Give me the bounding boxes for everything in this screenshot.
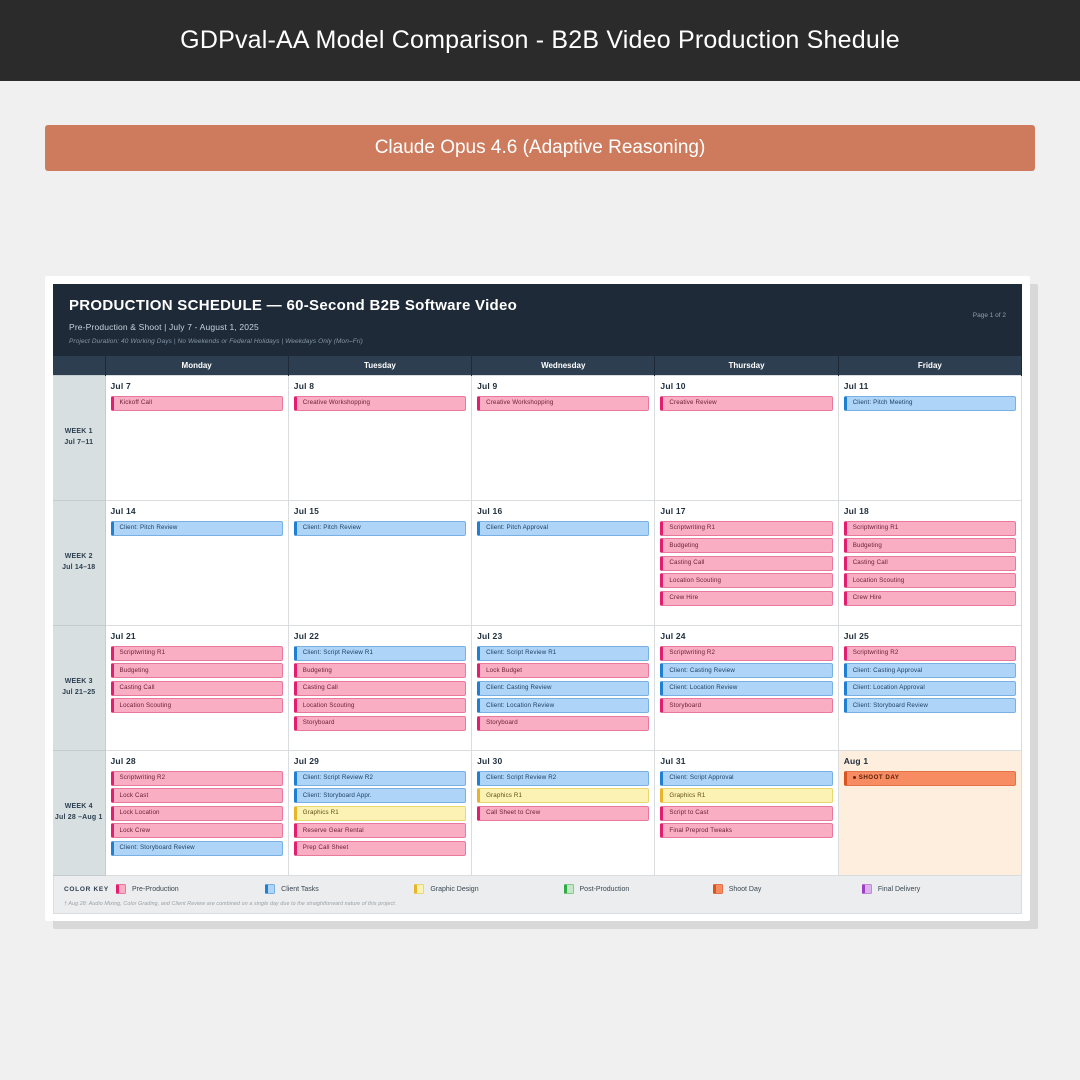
color-key-item: Shoot Day (713, 884, 862, 894)
event-chip-pre[interactable]: Location Scouting (294, 698, 466, 713)
event-chip-client[interactable]: Client: Location Approval (844, 681, 1016, 696)
event-chip-pre[interactable]: Scriptwriting R2 (111, 771, 283, 786)
event-chip-client[interactable]: Client: Script Review R2 (294, 771, 466, 786)
day-cell[interactable]: Jul 25Scriptwriting R2Client: Casting Ap… (838, 626, 1021, 751)
day-date-label: Jul 15 (294, 506, 466, 516)
event-chip-pre[interactable]: Location Scouting (660, 573, 832, 588)
color-key-row: COLOR KEY Pre-ProductionClient TasksGrap… (64, 884, 1011, 894)
week-row: WEEK 3Jul 21–25Jul 21Scriptwriting R1Bud… (53, 626, 1022, 751)
model-banner: Claude Opus 4.6 (Adaptive Reasoning) (45, 125, 1035, 171)
week-row: WEEK 1Jul 7–11Jul 7Kickoff CallJul 8Crea… (53, 376, 1022, 501)
event-chip-pre[interactable]: Lock Crew (111, 823, 283, 838)
event-chip-client[interactable]: Client: Pitch Review (294, 521, 466, 536)
week-label-range: Jul 21–25 (53, 688, 105, 699)
schedule-meta: Project Duration: 40 Working Days | No W… (69, 338, 1006, 345)
event-chip-pre[interactable]: Location Scouting (844, 573, 1016, 588)
event-chip-client[interactable]: Client: Storyboard Appr. (294, 788, 466, 803)
day-cell[interactable]: Jul 10Creative Review (655, 376, 838, 501)
event-chip-pre[interactable]: Reserve Gear Rental (294, 823, 466, 838)
day-cell[interactable]: Jul 16Client: Pitch Approval (472, 501, 655, 626)
event-chip-client[interactable]: Client: Script Review R1 (477, 646, 649, 661)
day-cell[interactable]: Jul 24Scriptwriting R2Client: Casting Re… (655, 626, 838, 751)
color-key-label: Client Tasks (281, 886, 319, 893)
app-header: GDPval-AA Model Comparison - B2B Video P… (0, 0, 1080, 81)
event-chip-pre[interactable]: Budgeting (111, 663, 283, 678)
event-chip-pre[interactable]: Casting Call (111, 681, 283, 696)
event-chip-client[interactable]: Client: Pitch Review (111, 521, 283, 536)
event-chip-pre[interactable]: Budgeting (660, 538, 832, 553)
week-label-cell: WEEK 4Jul 28 –Aug 1 (53, 751, 105, 876)
day-cell[interactable]: Jul 14Client: Pitch Review (105, 501, 288, 626)
page-title: GDPval-AA Model Comparison - B2B Video P… (180, 26, 900, 55)
color-key-label: Final Delivery (878, 886, 920, 893)
color-key-item: Graphic Design (414, 884, 563, 894)
week-row: WEEK 4Jul 28 –Aug 1Jul 28Scriptwriting R… (53, 751, 1022, 876)
day-date-label: Jul 16 (477, 506, 649, 516)
event-chip-pre[interactable]: Crew Hire (660, 591, 832, 606)
color-swatch-graphic (414, 884, 424, 894)
color-swatch-pre (116, 884, 126, 894)
event-chip-pre[interactable]: Storyboard (294, 716, 466, 731)
event-chip-pre[interactable]: Creative Review (660, 396, 832, 411)
event-chip-pre[interactable]: Casting Call (844, 556, 1016, 571)
event-chip-pre[interactable]: Storyboard (660, 698, 832, 713)
event-chip-shoot[interactable]: SHOOT DAY (844, 771, 1016, 786)
event-chip-graphic[interactable]: Graphics R1 (477, 788, 649, 803)
day-date-label: Jul 21 (111, 631, 283, 641)
calendar-head: Monday Tuesday Wednesday Thursday Friday (53, 356, 1022, 376)
event-chip-pre[interactable]: Lock Budget (477, 663, 649, 678)
day-cell[interactable]: Jul 23Client: Script Review R1Lock Budge… (472, 626, 655, 751)
event-chip-pre[interactable]: Final Preprod Tweaks (660, 823, 832, 838)
day-cell[interactable]: Jul 22Client: Script Review R1BudgetingC… (288, 626, 471, 751)
day-cell[interactable]: Jul 7Kickoff Call (105, 376, 288, 501)
color-key-item: Final Delivery (862, 884, 1011, 894)
event-chip-client[interactable]: Client: Storyboard Review (844, 698, 1016, 713)
calendar-table: Monday Tuesday Wednesday Thursday Friday… (53, 356, 1022, 876)
event-chip-pre[interactable]: Crew Hire (844, 591, 1016, 606)
day-cell[interactable]: Jul 15Client: Pitch Review (288, 501, 471, 626)
week-label-name: WEEK 4 (53, 802, 105, 813)
event-chip-pre[interactable]: Prep Call Sheet (294, 841, 466, 856)
color-key-label: Shoot Day (729, 886, 762, 893)
week-label-cell: WEEK 3Jul 21–25 (53, 626, 105, 751)
page-number: Page 1 of 2 (973, 312, 1006, 319)
event-chip-pre[interactable]: Scriptwriting R1 (111, 646, 283, 661)
color-key-item: Pre-Production (116, 884, 265, 894)
day-cell[interactable]: Jul 29Client: Script Review R2Client: St… (288, 751, 471, 876)
day-date-label: Jul 11 (844, 381, 1016, 391)
day-cell[interactable]: Jul 21Scriptwriting R1BudgetingCasting C… (105, 626, 288, 751)
event-chip-pre[interactable]: Call Sheet to Crew (477, 806, 649, 821)
event-chip-client[interactable]: Client: Script Review R1 (294, 646, 466, 661)
week-label-cell: WEEK 1Jul 7–11 (53, 376, 105, 501)
day-date-label: Jul 28 (111, 756, 283, 766)
day-header-wednesday: Wednesday (472, 356, 655, 376)
event-chip-pre[interactable]: Scriptwriting R2 (844, 646, 1016, 661)
event-chip-pre[interactable]: Creative Workshopping (294, 396, 466, 411)
event-chip-pre[interactable]: Budgeting (294, 663, 466, 678)
event-chip-client[interactable]: Client: Script Review R2 (477, 771, 649, 786)
day-date-label: Jul 24 (660, 631, 832, 641)
day-date-label: Jul 17 (660, 506, 832, 516)
event-chip-graphic[interactable]: Graphics R1 (294, 806, 466, 821)
day-cell[interactable]: Jul 18Scriptwriting R1BudgetingCasting C… (838, 501, 1021, 626)
color-key-items: Pre-ProductionClient TasksGraphic Design… (116, 884, 1011, 894)
color-key-label: Post-Production (580, 886, 630, 893)
color-key-title: COLOR KEY (64, 886, 116, 893)
week-label-name: WEEK 2 (53, 552, 105, 563)
week-label-name: WEEK 1 (53, 427, 105, 438)
color-key-label: Pre-Production (132, 886, 179, 893)
event-chip-client[interactable]: Client: Casting Review (477, 681, 649, 696)
event-chip-client[interactable]: Client: Storyboard Review (111, 841, 283, 856)
model-band-container: Claude Opus 4.6 (Adaptive Reasoning) (0, 81, 1080, 171)
day-header-monday: Monday (105, 356, 288, 376)
color-key-item: Post-Production (564, 884, 713, 894)
shoot-day-dot-icon (853, 776, 856, 779)
event-chip-pre[interactable]: Budgeting (844, 538, 1016, 553)
week-label-cell: WEEK 2Jul 14–18 (53, 501, 105, 626)
event-chip-pre[interactable]: Lock Location (111, 806, 283, 821)
day-date-label: Jul 8 (294, 381, 466, 391)
day-cell[interactable]: Jul 11Client: Pitch Meeting (838, 376, 1021, 501)
day-date-label: Jul 7 (111, 381, 283, 391)
day-date-label: Jul 23 (477, 631, 649, 641)
day-cell[interactable]: Jul 8Creative Workshopping (288, 376, 471, 501)
day-date-label: Jul 18 (844, 506, 1016, 516)
day-header-tuesday: Tuesday (288, 356, 471, 376)
event-chip-pre[interactable]: Scriptwriting R2 (660, 646, 832, 661)
event-chip-pre[interactable]: Scriptwriting R1 (660, 521, 832, 536)
event-chip-pre[interactable]: Creative Workshopping (477, 396, 649, 411)
day-cell[interactable]: Jul 30Client: Script Review R2Graphics R… (472, 751, 655, 876)
color-swatch-shoot (713, 884, 723, 894)
event-chip-client[interactable]: Client: Casting Approval (844, 663, 1016, 678)
schedule-title: PRODUCTION SCHEDULE — 60-Second B2B Soft… (69, 297, 1006, 314)
model-name-label: Claude Opus 4.6 (Adaptive Reasoning) (375, 137, 706, 159)
week-label-name: WEEK 3 (53, 677, 105, 688)
week-label-range: Jul 28 –Aug 1 (53, 813, 105, 824)
week-label-range: Jul 7–11 (53, 438, 105, 449)
event-chip-client[interactable]: Client: Script Approval (660, 771, 832, 786)
event-chip-client[interactable]: Client: Pitch Approval (477, 521, 649, 536)
event-chip-pre[interactable]: Kickoff Call (111, 396, 283, 411)
color-swatch-client (265, 884, 275, 894)
day-date-label: Jul 29 (294, 756, 466, 766)
event-chip-client[interactable]: Client: Location Review (477, 698, 649, 713)
day-cell[interactable]: Aug 1SHOOT DAY (838, 751, 1021, 876)
day-date-label: Jul 10 (660, 381, 832, 391)
event-chip-pre[interactable]: Location Scouting (111, 698, 283, 713)
day-date-label: Jul 9 (477, 381, 649, 391)
day-date-label: Jul 25 (844, 631, 1016, 641)
event-chip-pre[interactable]: Lock Cast (111, 788, 283, 803)
color-key-label: Graphic Design (430, 886, 478, 893)
schedule-subtitle: Pre-Production & Shoot | July 7 - August… (69, 322, 1006, 332)
day-cell[interactable]: Jul 9Creative Workshopping (472, 376, 655, 501)
week-label-range: Jul 14–18 (53, 563, 105, 574)
schedule-header: PRODUCTION SCHEDULE — 60-Second B2B Soft… (53, 284, 1022, 356)
day-header-friday: Friday (838, 356, 1021, 376)
day-date-label: Jul 14 (111, 506, 283, 516)
event-chip-pre[interactable]: Scriptwriting R1 (844, 521, 1016, 536)
event-chip-client[interactable]: Client: Casting Review (660, 663, 832, 678)
event-chip-pre[interactable]: Storyboard (477, 716, 649, 731)
color-swatch-final (862, 884, 872, 894)
day-date-label: Jul 22 (294, 631, 466, 641)
schedule-footnote: † Aug 28: Audio Mixing, Color Grading, a… (64, 901, 1011, 907)
day-date-label: Aug 1 (844, 756, 1016, 766)
event-chip-graphic[interactable]: Graphics R1 (660, 788, 832, 803)
color-swatch-post (564, 884, 574, 894)
day-header-row: Monday Tuesday Wednesday Thursday Friday (53, 356, 1022, 376)
event-chip-client[interactable]: Client: Location Review (660, 681, 832, 696)
event-label: SHOOT DAY (859, 774, 900, 781)
day-date-label: Jul 30 (477, 756, 649, 766)
document-container: PRODUCTION SCHEDULE — 60-Second B2B Soft… (0, 171, 1080, 921)
day-date-label: Jul 31 (660, 756, 832, 766)
production-schedule-document: PRODUCTION SCHEDULE — 60-Second B2B Soft… (45, 276, 1030, 921)
calendar-body: WEEK 1Jul 7–11Jul 7Kickoff CallJul 8Crea… (53, 376, 1022, 876)
color-key: COLOR KEY Pre-ProductionClient TasksGrap… (53, 876, 1022, 914)
color-key-item: Client Tasks (265, 884, 414, 894)
day-cell[interactable]: Jul 31Client: Script ApprovalGraphics R1… (655, 751, 838, 876)
event-chip-pre[interactable]: Script to Cast (660, 806, 832, 821)
day-cell[interactable]: Jul 28Scriptwriting R2Lock CastLock Loca… (105, 751, 288, 876)
event-chip-pre[interactable]: Casting Call (294, 681, 466, 696)
day-header-thursday: Thursday (655, 356, 838, 376)
week-column-header (53, 356, 105, 376)
event-chip-pre[interactable]: Casting Call (660, 556, 832, 571)
day-cell[interactable]: Jul 17Scriptwriting R1BudgetingCasting C… (655, 501, 838, 626)
week-row: WEEK 2Jul 14–18Jul 14Client: Pitch Revie… (53, 501, 1022, 626)
event-chip-client[interactable]: Client: Pitch Meeting (844, 396, 1016, 411)
